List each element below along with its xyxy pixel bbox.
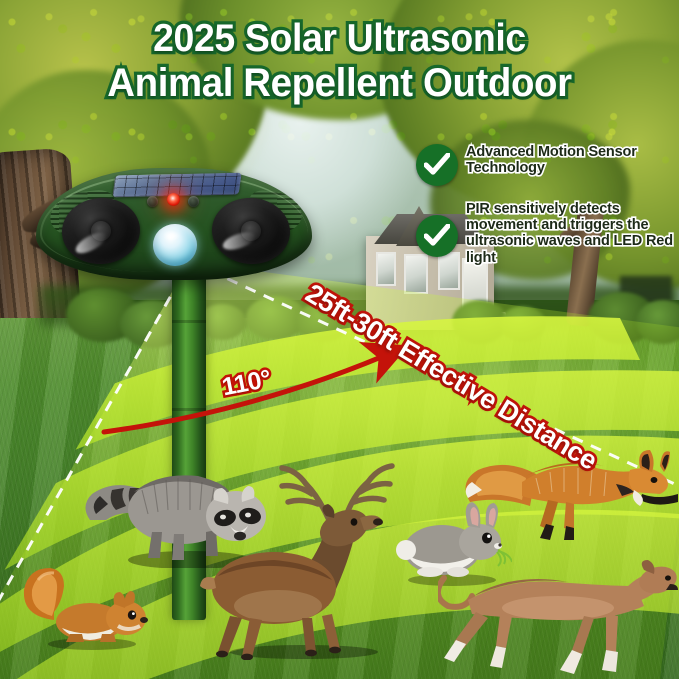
- speaker-highlight: [221, 229, 258, 253]
- solar-ultrasonic-repeller-device[interactable]: [36, 168, 312, 280]
- shrub: [500, 306, 546, 342]
- animal-dog: [438, 560, 678, 679]
- house-window: [376, 252, 396, 286]
- title-line-1: 2025 Solar Ultrasonic: [14, 18, 666, 61]
- feature-text: PIR sensitively detects movement and tri…: [466, 199, 678, 266]
- check-circle-icon: [416, 215, 458, 257]
- feature-text: Advanced Motion Sensor Technology: [466, 142, 678, 176]
- feature-list: Advanced Motion Sensor Technology PIR se…: [416, 142, 678, 279]
- pir-sensor-dome: [153, 224, 197, 266]
- red-led-indicator: [167, 193, 180, 206]
- check-circle-icon: [416, 144, 458, 186]
- page-title: 2025 Solar Ultrasonic Animal Repellent O…: [14, 18, 666, 105]
- control-button-left[interactable]: [147, 196, 158, 207]
- feature-item: Advanced Motion Sensor Technology: [416, 142, 678, 186]
- animal-squirrel: [14, 560, 154, 650]
- product-marketing-image: 2025 Solar Ultrasonic Animal Repellent O…: [0, 0, 679, 679]
- animal-deer: [178, 460, 408, 660]
- feature-item: PIR sensitively detects movement and tri…: [416, 199, 678, 266]
- title-line-2: Animal Repellent Outdoor: [14, 61, 666, 105]
- control-button-right[interactable]: [188, 196, 199, 207]
